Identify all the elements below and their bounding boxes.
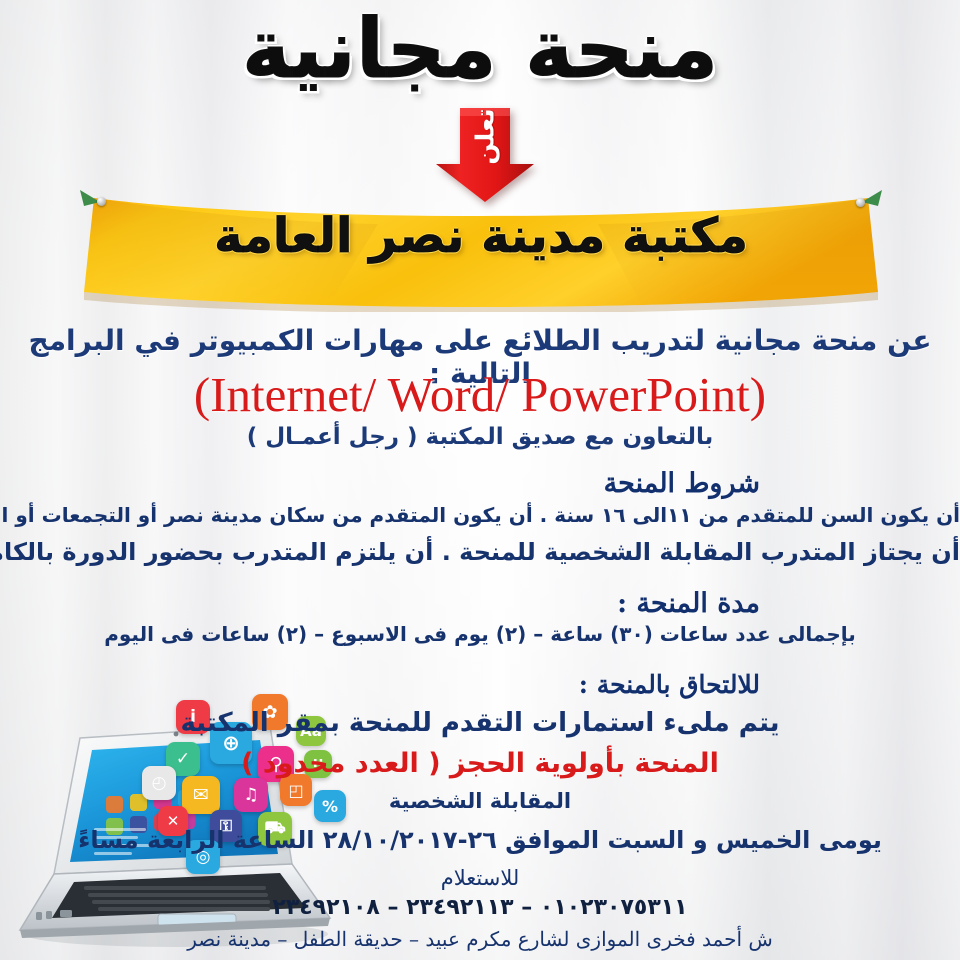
- contact-address: ش أحمد فخرى الموازى لشارع مكرم عبيد – حد…: [0, 927, 960, 951]
- contact-phones: ٠١٠٢٣٠٧٥٣١١ – ٢٣٤٩٢١١٣ – ٢٣٤٩٢١٠٨: [0, 895, 960, 920]
- contact-heading: للاستعلام: [0, 866, 960, 890]
- enrollment-line-4: يومى الخميس و السبت الموافق ٢٦-٢٨/١٠/٢٠١…: [0, 826, 960, 854]
- duration-detail: بإجمالى عدد ساعات (٣٠) ساعة – (٢) يوم فى…: [0, 622, 960, 646]
- enrollment-line-1: يتم ملىء استمارات التقدم للمنحة بمقر الم…: [0, 708, 960, 738]
- condition-row-2: أن يجتاز المتدرب المقابلة الشخصية للمنحة…: [0, 538, 960, 566]
- duration-heading: مدة المنحة :: [617, 588, 760, 619]
- announce-label: تعلن: [471, 108, 500, 164]
- banner-pin-right: [856, 198, 865, 207]
- programs-list: (Internet/ Word/ PowerPoint): [0, 366, 960, 423]
- organizer-name: مكتبة مدينة نصر العامة: [78, 210, 884, 263]
- condition-row-1: أن يكون السن للمتقدم من ١١الى ١٦ سنة . أ…: [0, 503, 960, 527]
- conditions-heading: شروط المنحة: [604, 468, 760, 499]
- banner-pin-left: [97, 197, 106, 206]
- partner-text: بالتعاون مع صديق المكتبة ( رجل أعمـال ): [0, 424, 960, 450]
- organizer-banner: مكتبة مدينة نصر العامة: [78, 188, 884, 312]
- enrollment-line-3: المقابلة الشخصية: [0, 789, 960, 813]
- enrollment-line-2: المنحة بأولوية الحجز ( العدد محدود ): [0, 748, 960, 779]
- poster-canvas: منحة مجانية تعلن: [0, 0, 960, 960]
- enrollment-heading: للالتحاق بالمنحة :: [579, 670, 760, 699]
- page-title: منحة مجانية: [0, 4, 960, 96]
- announce-arrow: تعلن: [430, 104, 540, 204]
